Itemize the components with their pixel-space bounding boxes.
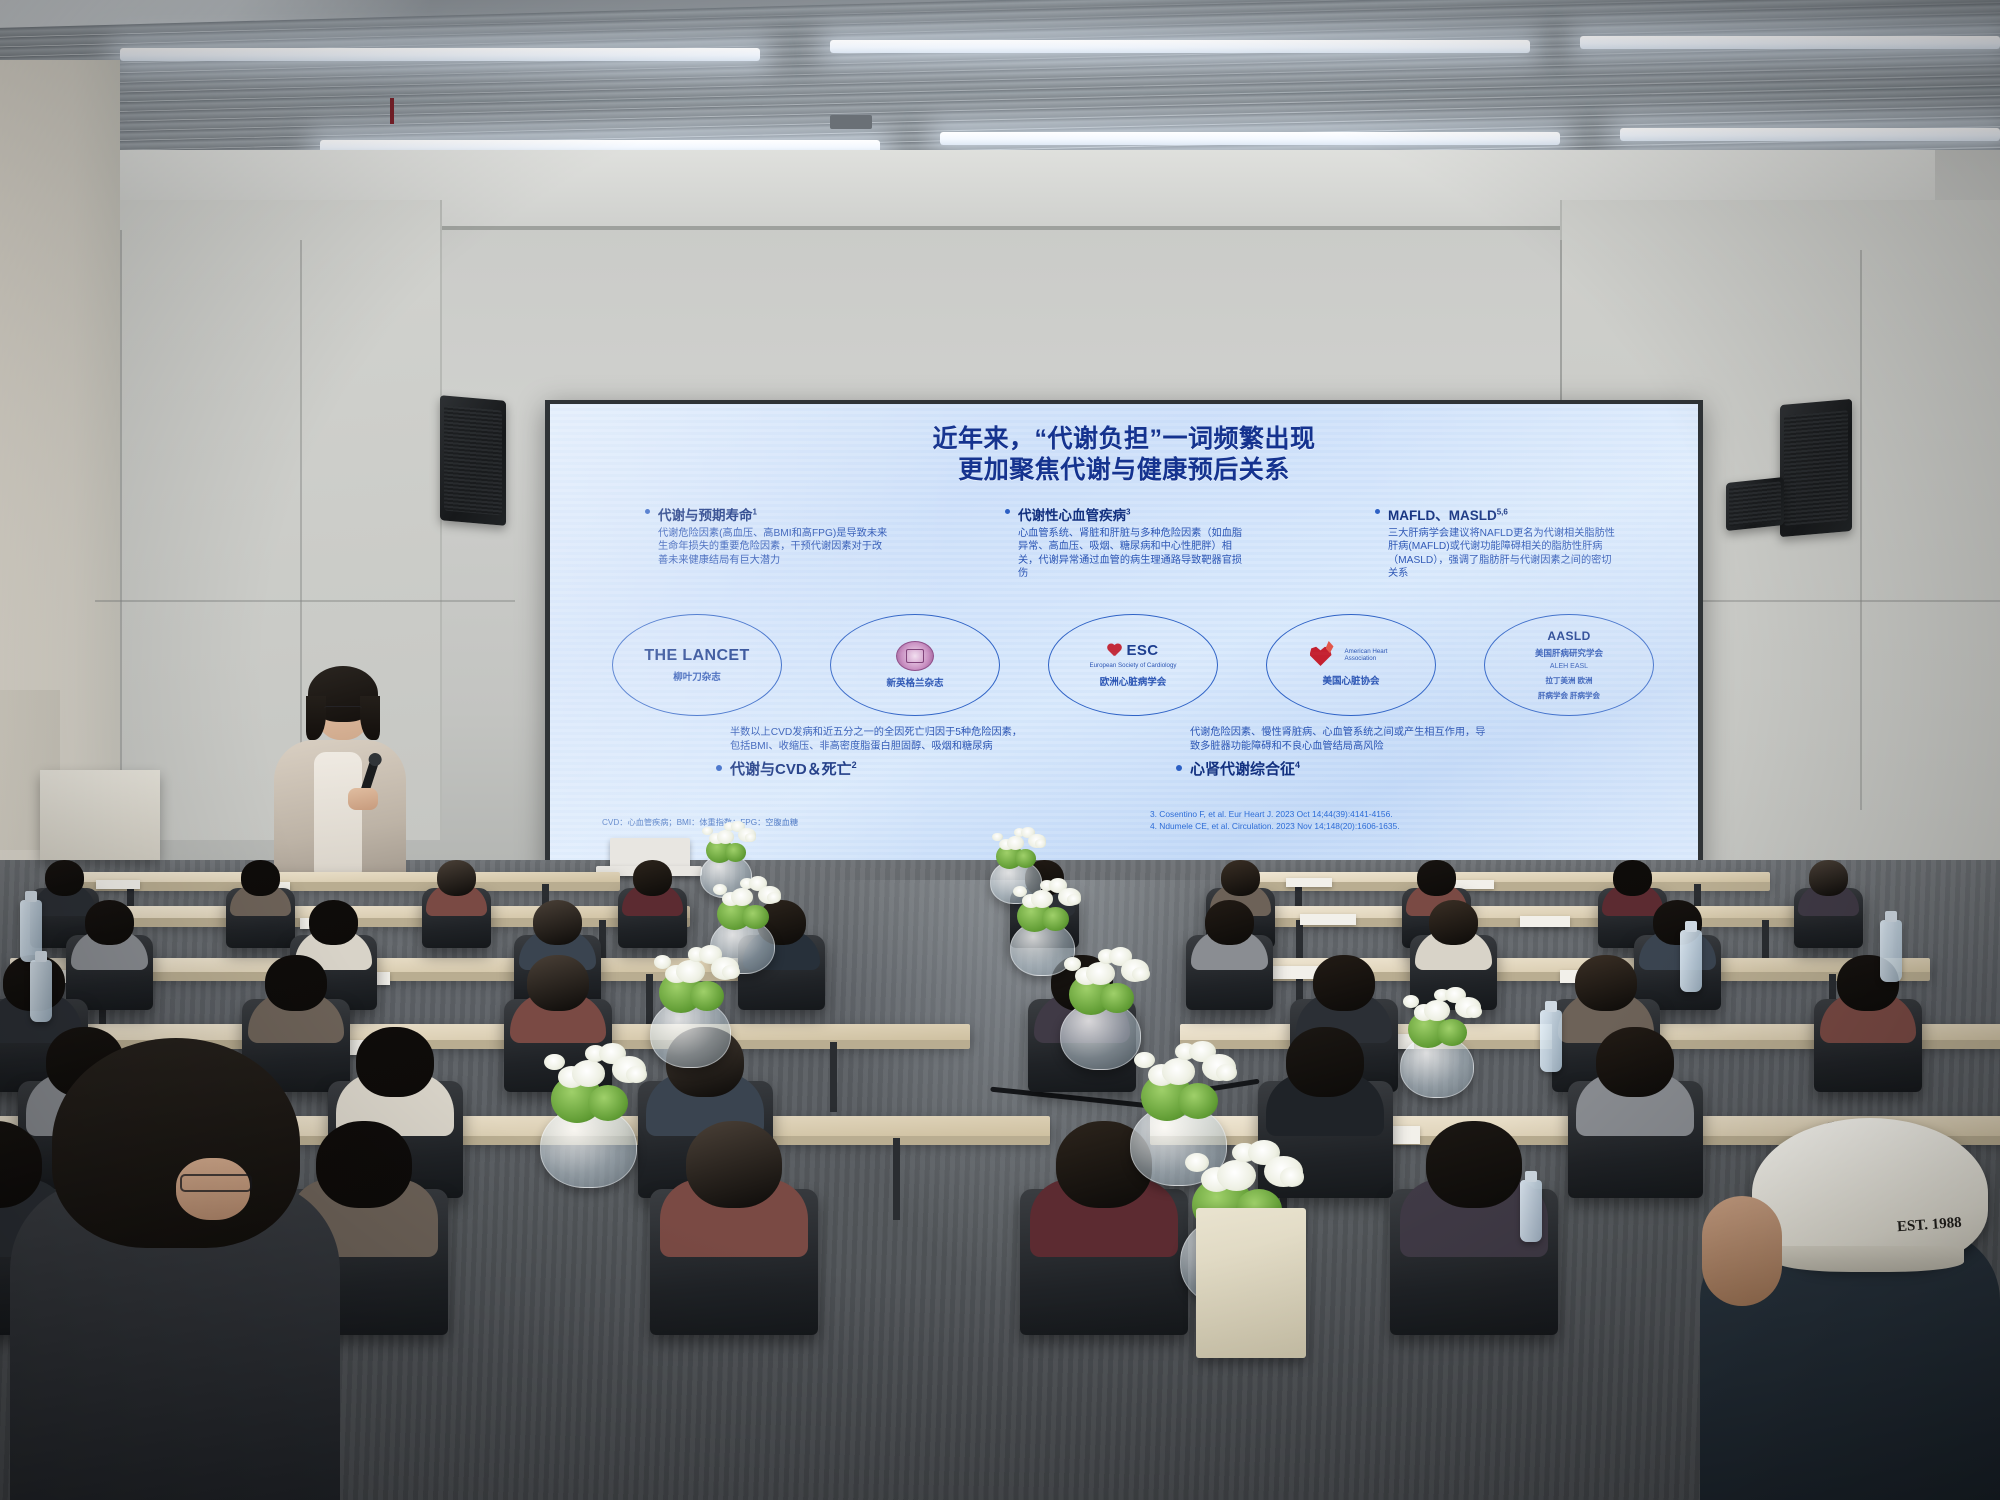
white-flower [1086, 962, 1114, 985]
logo-caption-3: 肝病学会 肝病学会 [1538, 690, 1600, 701]
attendee-head [1613, 860, 1653, 896]
handout-paper [1520, 916, 1570, 927]
foreground-attendee-ear [1702, 1196, 1782, 1306]
reference-item: 3. Cosentino F, et al. Eur Heart J. 2023… [1150, 808, 1400, 820]
handout-paper [1286, 878, 1332, 887]
presenter [268, 648, 418, 878]
attendee-head [85, 900, 135, 945]
screen-scanline [550, 482, 1698, 485]
white-flower [717, 830, 735, 844]
bullet-icon [1005, 509, 1010, 514]
lower-heading-text: 代谢与CVD＆死亡 [730, 761, 852, 778]
slide-columns: 代谢与预期寿命1 代谢危险因素(高血压、高BMI和高FPG)是导致未来生命年损失… [598, 504, 1650, 614]
green-foliage [1042, 907, 1069, 931]
society-logo-row: THE LANCET 柳叶刀杂志 新英格兰杂志 ESC European Soc… [550, 614, 1698, 718]
presenter-hair-right [360, 696, 380, 740]
attendee-head [265, 955, 327, 1011]
attendee-head [1429, 900, 1479, 945]
column-body: 代谢危险因素(高血压、高BMI和高FPG)是导致未来生命年损失的重要危险因素，干… [658, 527, 890, 567]
white-flower [1162, 1058, 1196, 1085]
conference-hall-photo: 近年来，“代谢负担”一词频繁出现 更加聚焦代谢与健康预后关系 代谢与预期寿命1 … [0, 0, 2000, 1500]
ceiling-light-tube [940, 132, 1560, 145]
screen-scanline [550, 788, 1698, 791]
attendee-head [356, 1027, 433, 1097]
handout-paper [96, 880, 140, 889]
logo-caption-2: 拉丁美洲 欧洲 [1545, 675, 1592, 686]
white-flower [1280, 1167, 1304, 1187]
lower-block-cvd-mortality: 半数以上CVD发病和近五分之一的全因死亡归因于5种危险因素，包括BMI、收缩压、… [730, 726, 1030, 779]
lower-block-heading: 心肾代谢综合征4 [1190, 758, 1490, 779]
foreground-glasses-icon [180, 1174, 252, 1192]
screen-scanline [550, 584, 1698, 587]
bullet-icon [645, 509, 650, 514]
screen-scanline [550, 822, 1698, 825]
wall-speaker-right [1780, 399, 1852, 537]
desk-leg [830, 1042, 837, 1112]
lectern [40, 770, 160, 860]
column-heading: MAFLD、MASLD5,6 [1388, 504, 1620, 524]
green-foliage [1100, 983, 1133, 1013]
desk-edge [60, 882, 620, 891]
presenter-glasses-icon [324, 706, 362, 716]
wall-seam [1860, 250, 1862, 810]
wall-speaker-left [440, 395, 506, 526]
baseball-cap: EST. 1988 [1752, 1118, 1988, 1268]
desk-leg [893, 1138, 900, 1220]
attendee-head [316, 1121, 412, 1208]
slide-title: 近年来，“代谢负担”一词频繁出现 更加聚焦代谢与健康预后关系 [550, 424, 1698, 485]
slide-references: 3. Cosentino F, et al. Eur Heart J. 2023… [1150, 808, 1400, 832]
white-flower [1007, 836, 1025, 850]
column-heading: 代谢与预期寿命1 [658, 504, 890, 524]
logo-subtitle: ALEH EASL [1550, 663, 1588, 671]
nejm-seal-icon [896, 641, 934, 671]
water-bottle [30, 960, 52, 1022]
white-flower [572, 1060, 606, 1087]
white-flower [1217, 1160, 1256, 1191]
speaker-grill [444, 405, 502, 515]
green-foliage [1015, 849, 1036, 868]
green-foliage [742, 905, 769, 929]
attendee-head [241, 860, 281, 896]
bullet-icon [1375, 509, 1380, 514]
cap-text: EST. 1988 [1897, 1215, 1963, 1236]
lower-heading-sup: 2 [852, 760, 857, 770]
aasld-icon: AASLD [1547, 629, 1590, 643]
logo-liver-societies: AASLD 美国肝病研究学会 ALEH EASL 拉丁美洲 欧洲 肝病学会 肝病… [1484, 614, 1654, 716]
attendee-head [1205, 900, 1255, 945]
speaker-grill [1729, 481, 1780, 527]
attendee-head [527, 955, 589, 1011]
desk [60, 872, 620, 884]
attendee-head [1596, 1027, 1673, 1097]
ceiling-marker [390, 98, 394, 124]
handout-paper [1300, 914, 1356, 925]
attendee-head [633, 860, 673, 896]
lower-heading-text: 心肾代谢综合征 [1190, 761, 1295, 778]
attendee-head [1417, 860, 1457, 896]
attendee-head [1313, 955, 1375, 1011]
screen-scanline [550, 618, 1698, 621]
screen-scanline [550, 686, 1698, 689]
ceiling-light-tube [830, 40, 1530, 53]
screen-scanline [550, 414, 1698, 417]
green-foliage [1178, 1083, 1218, 1119]
presentation-screen: 近年来，“代谢负担”一词频繁出现 更加聚焦代谢与健康预后关系 代谢与预期寿命1 … [550, 404, 1698, 870]
presenter-inner-top [314, 752, 362, 882]
attendee-head [309, 900, 359, 945]
wall-speaker-right-small [1726, 477, 1784, 531]
bullet-icon [1176, 765, 1182, 771]
water-bottle [1540, 1010, 1562, 1072]
green-foliage [588, 1085, 628, 1121]
column-body: 三大肝病学会建议将NAFLD更名为代谢相关脂肪性肝病(MAFLD)或代谢功能障碍… [1388, 527, 1620, 581]
cap-brim [1776, 1246, 1965, 1272]
tote-bag [1196, 1208, 1306, 1358]
attendee-head [45, 860, 85, 896]
column-body: 心血管系统、肾脏和肝脏与多种危险因素（如血脂异常、高血压、吸烟、糖尿病和中心性肥… [1018, 527, 1250, 581]
logo-nejm: 新英格兰杂志 [830, 614, 1000, 716]
ceiling-light-tube [1580, 36, 2000, 49]
attendee-head [437, 860, 477, 896]
slide-lower-blocks: 半数以上CVD发病和近五分之一的全因死亡归因于5种危险因素，包括BMI、收缩压、… [550, 726, 1698, 816]
attendee-head [686, 1121, 782, 1208]
lancet-wordmark-icon: THE LANCET [644, 647, 749, 665]
ceiling-light-tube [1620, 128, 2000, 141]
desk [40, 906, 690, 920]
white-flower [1466, 1005, 1482, 1018]
aha-heart-icon [1306, 643, 1340, 669]
ceiling-light-tube [120, 48, 760, 61]
esc-heart-icon [1107, 644, 1122, 658]
lower-block-cardiorenal: 代谢危险因素、慢性肾脏病、心血管系统之间或产生相互作用，导致多脏器功能障碍和不良… [1190, 726, 1490, 779]
attendee-head [1809, 860, 1849, 896]
lower-heading-sup: 4 [1295, 760, 1300, 770]
lower-block-body: 代谢危险因素、慢性肾脏病、心血管系统之间或产生相互作用，导致多脏器功能障碍和不良… [1190, 726, 1490, 753]
desk-edge [40, 918, 690, 927]
attendee-head [1426, 1121, 1522, 1208]
speaker-grill [1784, 410, 1847, 526]
esc-wordmark: ESC [1126, 642, 1158, 659]
presenter-hand [348, 788, 378, 810]
water-bottle [1520, 1180, 1542, 1242]
attendee-head [1221, 860, 1261, 896]
screen-scanline [550, 754, 1698, 757]
foreground-attendee-left-head [52, 1038, 300, 1248]
screen-scanline [550, 448, 1698, 451]
green-foliage [690, 981, 723, 1011]
lower-block-heading: 代谢与CVD＆死亡2 [730, 758, 1030, 779]
logo-aha: American Heart Association 美国心脏协会 [1266, 614, 1436, 716]
water-bottle [1880, 920, 1902, 982]
ceiling-vent [830, 115, 872, 129]
logo-caption: 柳叶刀杂志 [673, 669, 721, 683]
screen-scanline [550, 516, 1698, 519]
presenter-hair-left [306, 696, 326, 740]
logo-subtitle: European Society of Cardiology [1085, 663, 1181, 670]
screen-scanline [550, 652, 1698, 655]
logo-caption: 美国心脏协会 [1322, 673, 1379, 687]
wall-seam [95, 600, 515, 602]
green-foliage [725, 843, 746, 862]
screen-scanline [550, 720, 1698, 723]
logo-esc: ESC European Society of Cardiology 欧洲心脏病… [1048, 614, 1218, 716]
attendee-head [1575, 955, 1637, 1011]
water-bottle [1680, 930, 1702, 992]
slide-title-line-2: 更加聚焦代谢与健康预后关系 [550, 455, 1698, 486]
bullet-icon [716, 765, 722, 771]
attendee-head [533, 900, 583, 945]
white-flower [676, 960, 704, 983]
screen-scanline [550, 550, 1698, 553]
lower-block-body: 半数以上CVD发病和近五分之一的全因死亡归因于5种危险因素，包括BMI、收缩压、… [730, 726, 1030, 753]
attendee-head [1286, 1027, 1363, 1097]
logo-lancet: THE LANCET 柳叶刀杂志 [612, 614, 782, 716]
desk [0, 1024, 970, 1042]
slide-column-metabolism-lifespan: 代谢与预期寿命1 代谢危险因素(高血压、高BMI和高FPG)是导致未来生命年损失… [658, 504, 890, 567]
white-flower [1424, 1000, 1450, 1020]
column-heading: 代谢性心血管疾病3 [1018, 504, 1250, 524]
